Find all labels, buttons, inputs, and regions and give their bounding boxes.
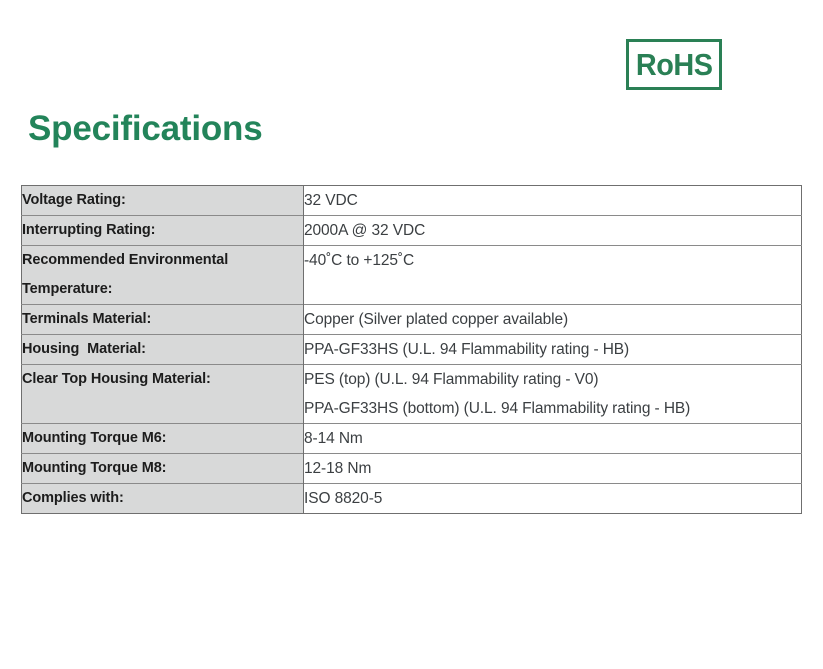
spec-label: Recommended Environmental Temperature: [22, 246, 304, 305]
specifications-table: Voltage Rating:32 VDCInterrupting Rating… [21, 185, 802, 514]
table-row: Complies with:ISO 8820-5 [22, 484, 802, 514]
spec-label: Mounting Torque M8: [22, 454, 304, 484]
spec-value: 32 VDC [304, 186, 802, 216]
table-row: Mounting Torque M8:12-18 Nm [22, 454, 802, 484]
table-row: Clear Top Housing Material:PES (top) (U.… [22, 365, 802, 424]
table-row: Recommended Environmental Temperature:-4… [22, 246, 802, 305]
spec-value: Copper (Silver plated copper available) [304, 305, 802, 335]
spec-label: Terminals Material: [22, 305, 304, 335]
spec-value: PPA-GF33HS (U.L. 94 Flammability rating … [304, 335, 802, 365]
spec-label: Complies with: [22, 484, 304, 514]
spec-value: PES (top) (U.L. 94 Flammability rating -… [304, 365, 802, 424]
table-row: Housing Material:PPA-GF33HS (U.L. 94 Fla… [22, 335, 802, 365]
specifications-table-body: Voltage Rating:32 VDCInterrupting Rating… [22, 186, 802, 514]
table-row: Terminals Material:Copper (Silver plated… [22, 305, 802, 335]
table-row: Interrupting Rating:2000A @ 32 VDC [22, 216, 802, 246]
spec-value: -40˚C to +125˚C [304, 246, 802, 305]
spec-value: ISO 8820-5 [304, 484, 802, 514]
rohs-badge: RoHS [626, 39, 722, 90]
spec-value: 8-14 Nm [304, 424, 802, 454]
spec-label: Clear Top Housing Material: [22, 365, 304, 424]
spec-value: 2000A @ 32 VDC [304, 216, 802, 246]
rohs-label: RoHS [636, 49, 713, 80]
table-row: Voltage Rating:32 VDC [22, 186, 802, 216]
spec-label: Housing Material: [22, 335, 304, 365]
page-title: Specifications [28, 108, 263, 150]
table-row: Mounting Torque M6:8-14 Nm [22, 424, 802, 454]
spec-label: Interrupting Rating: [22, 216, 304, 246]
spec-label: Voltage Rating: [22, 186, 304, 216]
spec-value: 12-18 Nm [304, 454, 802, 484]
spec-label: Mounting Torque M6: [22, 424, 304, 454]
